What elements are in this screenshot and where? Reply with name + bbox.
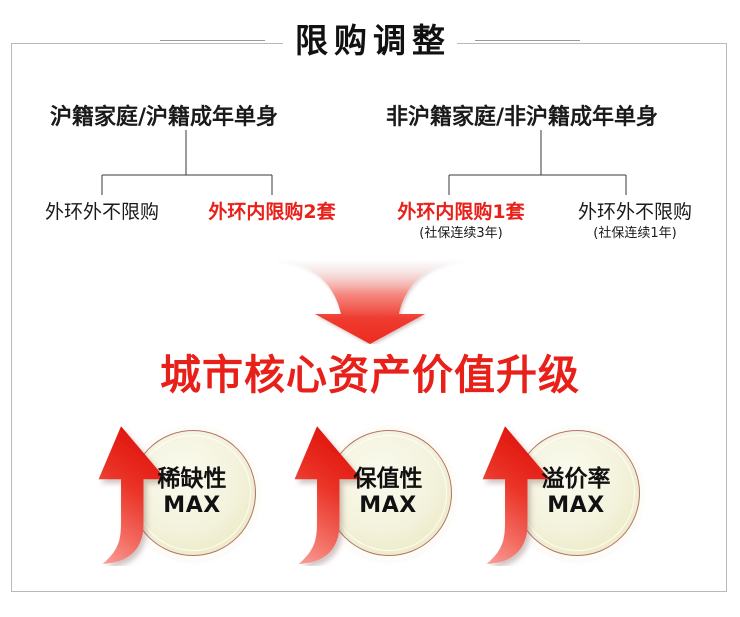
leaf-label: 外环外不限购 [24,200,180,224]
badge-labels: 溢价率 MAX [514,430,638,554]
leaf-item: 外环外不限购 (社保连续1年) [552,200,718,243]
badge-labels: 稀缺性 MAX [130,430,254,554]
leaf-label: 外环内限购1套 [378,200,544,224]
title-bar: 限购调整 [0,14,740,66]
funnel-down-arrow-icon [275,258,465,344]
badge-row: 稀缺性 MAX [0,418,740,568]
leaf-item: 外环内限购2套 [186,200,358,225]
headline: 城市核心资产价值升级 [0,353,740,398]
leaf-label: 外环内限购2套 [186,200,358,224]
badge-labels: 保值性 MAX [326,430,450,554]
badge: 稀缺性 MAX [72,418,268,568]
title-rule-right-icon [475,40,580,41]
badge: 溢价率 MAX [456,418,652,568]
infographic-root: 限购调整 沪籍家庭/沪籍成年单身 非沪籍家庭/非沪籍成年单身 外环外不限购 外环… [0,0,740,617]
leaf-item: 外环内限购1套 (社保连续3年) [378,200,544,243]
title-rule-left-icon [160,40,265,41]
column-header-nonlocal: 非沪籍家庭/非沪籍成年单身 [386,99,658,131]
badge-label-max: MAX [163,494,220,517]
leaf-item: 外环外不限购 [24,200,180,225]
column-header-local: 沪籍家庭/沪籍成年单身 [50,99,278,131]
leaf-note: (社保连续3年) [378,225,544,243]
badge: 保值性 MAX [268,418,464,568]
leaf-note: (社保连续1年) [552,225,718,243]
badge-label-cn: 稀缺性 [158,467,227,491]
page-title: 限购调整 [283,24,457,57]
badge-label-max: MAX [547,494,604,517]
badge-label-max: MAX [359,494,416,517]
badge-label-cn: 溢价率 [542,467,611,491]
badge-label-cn: 保值性 [354,467,423,491]
leaf-label: 外环外不限购 [552,200,718,224]
